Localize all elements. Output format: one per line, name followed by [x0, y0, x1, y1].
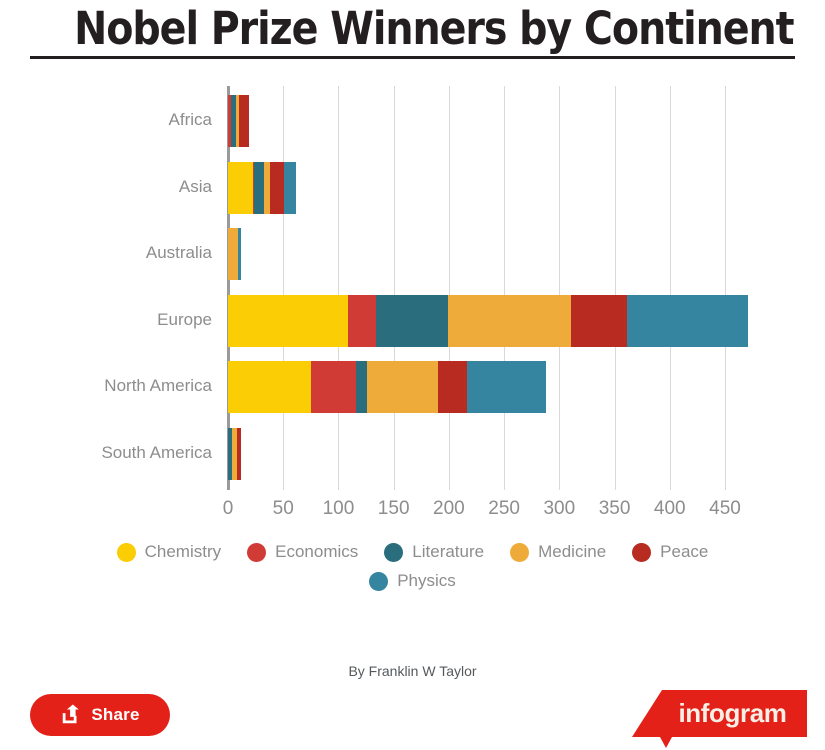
legend-item-chemistry[interactable]: Chemistry — [111, 542, 228, 562]
tick-label-150: 150 — [378, 498, 410, 520]
bar-segment-medicine[interactable] — [228, 228, 238, 280]
legend-swatch-economics-icon — [247, 543, 266, 562]
category-label-south-america: South America — [0, 443, 212, 463]
category-label-europe: Europe — [0, 310, 212, 330]
share-icon — [60, 704, 82, 726]
legend-label: Medicine — [538, 542, 606, 562]
legend-label: Physics — [397, 571, 456, 591]
bar-segment-medicine[interactable] — [448, 295, 572, 347]
credit-line: By Franklin W Taylor — [0, 663, 825, 679]
legend-item-literature[interactable]: Literature — [378, 542, 490, 562]
legend-item-medicine[interactable]: Medicine — [504, 542, 612, 562]
title-divider — [30, 56, 795, 59]
tick-label-0: 0 — [223, 498, 234, 520]
bar-row-africa[interactable] — [228, 95, 249, 147]
legend-label: Peace — [660, 542, 708, 562]
tick-label-300: 300 — [543, 498, 575, 520]
bar-segment-peace[interactable] — [237, 428, 241, 480]
legend-swatch-peace-icon — [632, 543, 651, 562]
category-label-north-america: North America — [0, 376, 212, 396]
tick-label-100: 100 — [323, 498, 355, 520]
title-block: Nobel Prize Winners by Continent — [0, 0, 825, 59]
chart-legend: ChemistryEconomicsLiteratureMedicinePeac… — [0, 542, 825, 600]
plot-area: AfricaAsiaAustraliaEuropeNorth AmericaSo… — [0, 86, 825, 496]
infogram-logo[interactable]: infogram — [632, 690, 807, 748]
page-title: Nobel Prize Winners by Continent — [74, 4, 751, 54]
bars-container — [228, 86, 788, 490]
legend-row-2: Physics — [0, 571, 825, 591]
share-label: Share — [91, 705, 139, 725]
legend-label: Literature — [412, 542, 484, 562]
tick-label-250: 250 — [488, 498, 520, 520]
category-axis-labels: AfricaAsiaAustraliaEuropeNorth AmericaSo… — [0, 86, 212, 486]
legend-swatch-literature-icon — [384, 543, 403, 562]
tick-label-200: 200 — [433, 498, 465, 520]
tick-label-50: 50 — [273, 498, 294, 520]
bar-segment-peace[interactable] — [571, 295, 626, 347]
bar-row-north-america[interactable] — [228, 361, 546, 413]
bar-segment-peace[interactable] — [438, 361, 467, 413]
legend-swatch-medicine-icon — [510, 543, 529, 562]
bar-segment-peace[interactable] — [270, 162, 284, 214]
tick-label-350: 350 — [599, 498, 631, 520]
legend-swatch-physics-icon — [369, 572, 388, 591]
bar-row-europe[interactable] — [228, 295, 748, 347]
bar-segment-chemistry[interactable] — [228, 162, 253, 214]
legend-label: Chemistry — [145, 542, 222, 562]
tick-label-400: 400 — [654, 498, 686, 520]
chart-page: Nobel Prize Winners by Continent AfricaA… — [0, 0, 825, 750]
legend-swatch-chemistry-icon — [117, 543, 136, 562]
bar-segment-physics[interactable] — [284, 162, 296, 214]
bar-segment-chemistry[interactable] — [228, 361, 311, 413]
bar-segment-physics[interactable] — [238, 228, 241, 280]
bar-segment-chemistry[interactable] — [228, 295, 348, 347]
bar-segment-economics[interactable] — [311, 361, 356, 413]
bar-segment-literature[interactable] — [254, 162, 264, 214]
bar-row-south-america[interactable] — [228, 428, 241, 480]
bar-row-asia[interactable] — [228, 162, 296, 214]
legend-label: Economics — [275, 542, 358, 562]
bar-segment-peace[interactable] — [239, 95, 249, 147]
category-label-africa: Africa — [0, 110, 212, 130]
category-label-australia: Australia — [0, 243, 212, 263]
bar-segment-literature[interactable] — [356, 361, 367, 413]
bar-segment-literature[interactable] — [376, 295, 448, 347]
legend-item-economics[interactable]: Economics — [241, 542, 364, 562]
legend-row-1: ChemistryEconomicsLiteratureMedicinePeac… — [0, 542, 825, 562]
bar-segment-medicine[interactable] — [367, 361, 438, 413]
tick-label-450: 450 — [709, 498, 741, 520]
bar-segment-physics[interactable] — [467, 361, 547, 413]
value-axis-tick-labels: 050100150200250300350400450 — [0, 498, 825, 528]
footer-bar: Share infogram — [0, 686, 825, 750]
share-button[interactable]: Share — [30, 694, 170, 736]
bar-row-australia[interactable] — [228, 228, 241, 280]
legend-item-peace[interactable]: Peace — [626, 542, 714, 562]
infogram-logo-text: infogram — [632, 690, 807, 737]
bar-segment-economics[interactable] — [348, 295, 376, 347]
legend-item-physics[interactable]: Physics — [363, 571, 462, 591]
category-label-asia: Asia — [0, 177, 212, 197]
bar-segment-physics[interactable] — [627, 295, 748, 347]
